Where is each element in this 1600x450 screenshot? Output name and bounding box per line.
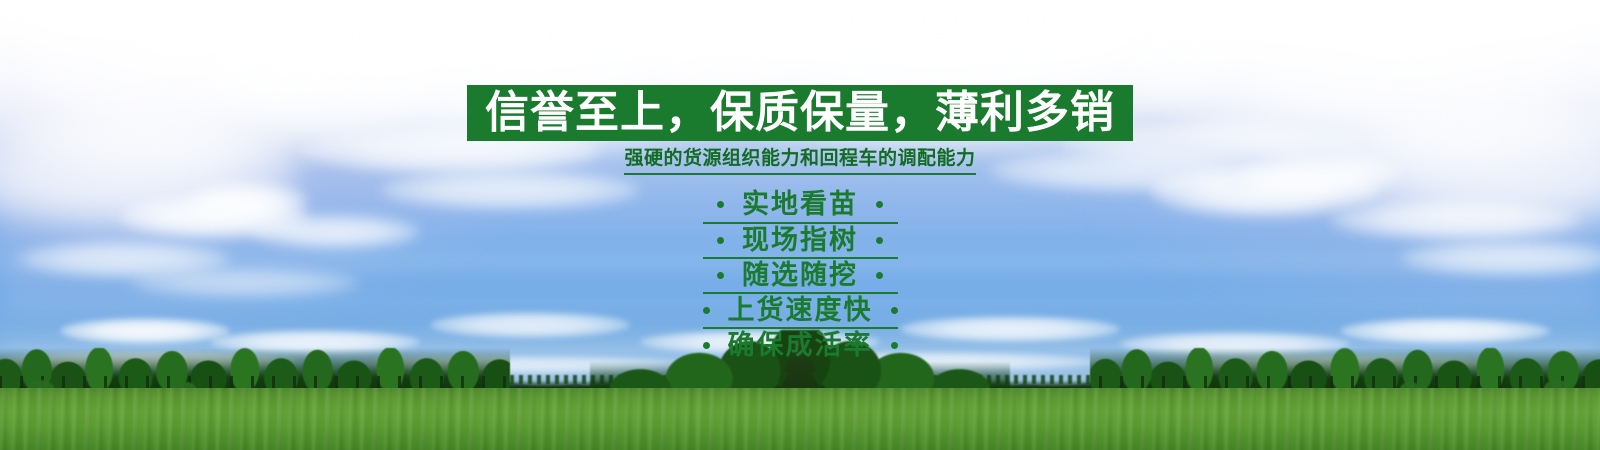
promo-banner: 信誉至上，保质保量，薄利多销 强硬的货源组织能力和回程车的调配能力 实地看苗 现…: [0, 0, 1600, 450]
banner-content: 信誉至上，保质保量，薄利多销 强硬的货源组织能力和回程车的调配能力 实地看苗 现…: [0, 0, 1600, 362]
bullet-dot-icon: [891, 342, 898, 349]
headline-text: 信誉至上，保质保量，薄利多销: [485, 91, 1115, 135]
bullet-dot-icon: [703, 342, 710, 349]
bullet-dot-icon: [891, 307, 898, 314]
headline-banner: 信誉至上，保质保量，薄利多销: [467, 85, 1133, 141]
feature-label: 现场指树: [738, 227, 862, 254]
feature-item: 现场指树: [703, 222, 898, 257]
bullet-dot-icon: [717, 201, 724, 208]
subtitle-container: 强硬的货源组织能力和回程车的调配能力: [624, 148, 975, 175]
feature-label: 随选随挖: [738, 262, 862, 289]
subtitle-text: 强硬的货源组织能力和回程车的调配能力: [624, 148, 975, 175]
bullet-dot-icon: [703, 307, 710, 314]
feature-list: 实地看苗 现场指树 随选随挖 上货速度快 确保成活率: [703, 187, 898, 362]
feature-item: 上货速度快: [703, 292, 898, 327]
bullet-dot-icon: [876, 201, 883, 208]
feature-label: 确保成活率: [724, 332, 877, 359]
bullet-dot-icon: [876, 237, 883, 244]
bullet-dot-icon: [717, 272, 724, 279]
feature-item: 确保成活率: [703, 327, 898, 362]
bullet-dot-icon: [717, 237, 724, 244]
feature-item: 随选随挖: [703, 257, 898, 292]
feature-label: 实地看苗: [738, 191, 862, 218]
bullet-dot-icon: [876, 272, 883, 279]
green-crop-field: [0, 388, 1600, 450]
crop-rows-secondary: [0, 388, 1600, 450]
landscape-ground: [0, 360, 1600, 450]
feature-item: 实地看苗: [703, 187, 898, 222]
feature-label: 上货速度快: [724, 297, 877, 324]
